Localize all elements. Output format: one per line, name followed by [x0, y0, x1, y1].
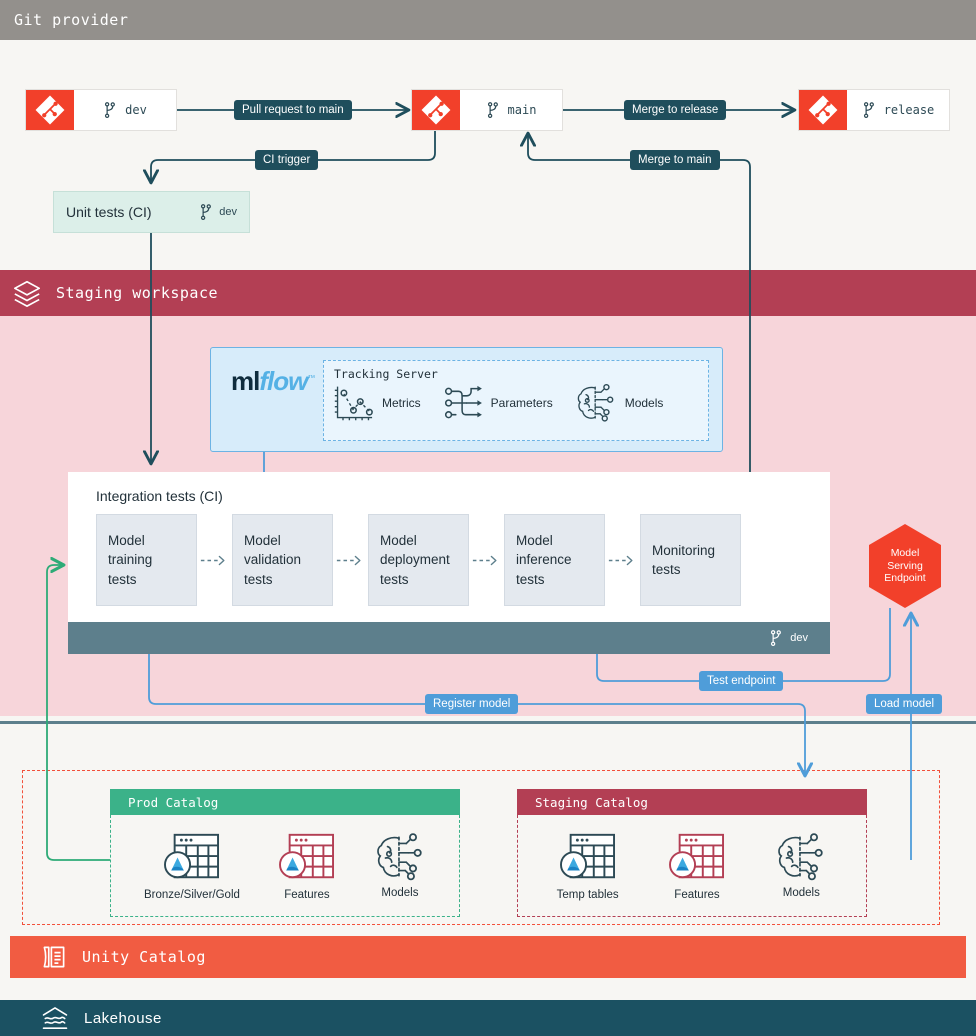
- delta-table-icon: [559, 830, 617, 884]
- mlflow-logo-ml: ml: [231, 366, 259, 396]
- prod-catalog-header: Prod Catalog: [110, 789, 460, 815]
- branch-name-main: main: [508, 103, 537, 117]
- stage-label: Monitoring tests: [652, 541, 715, 579]
- model-serving-endpoint-label: Model Serving Endpoint: [884, 547, 925, 585]
- tracking-item-label: Models: [625, 396, 664, 410]
- feature-table-icon: [278, 830, 336, 884]
- label-test-endpoint: Test endpoint: [699, 671, 783, 691]
- asset-label: Features: [674, 889, 719, 901]
- stage-model-validation-tests[interactable]: Model validation tests: [232, 514, 333, 606]
- flow-nodes-icon: [443, 385, 483, 421]
- stage-monitoring-tests[interactable]: Monitoring tests: [640, 514, 741, 606]
- asset-temp-tables[interactable]: Temp tables: [557, 830, 619, 901]
- tracking-item-parameters: Parameters: [443, 385, 553, 421]
- brain-circuit-icon: [775, 832, 827, 882]
- mlflow-trademark: ™: [307, 373, 314, 382]
- asset-label: Temp tables: [557, 889, 619, 901]
- label-load-model: Load model: [866, 694, 942, 714]
- branch-name-dev: dev: [125, 103, 147, 117]
- tracking-server-label: Tracking Server: [324, 361, 708, 381]
- stage-model-training-tests[interactable]: Model training tests: [96, 514, 197, 606]
- stage-label: Model validation tests: [244, 531, 301, 588]
- label-merge-to-release: Merge to release: [624, 100, 726, 120]
- staging-catalog-title: Staging Catalog: [535, 795, 648, 810]
- asset-label: Features: [284, 889, 329, 901]
- stage-connector-arrow-icon: [605, 554, 640, 567]
- git-branch-icon: [769, 629, 784, 647]
- stage-model-deployment-tests[interactable]: Model deployment tests: [368, 514, 469, 606]
- mlflow-logo-flow: flow: [259, 366, 307, 396]
- stage-connector-arrow-icon: [469, 554, 504, 567]
- label-ci-trigger: CI trigger: [255, 150, 318, 170]
- delta-table-icon: [163, 830, 221, 884]
- mlflow-logo: mlflow™: [231, 368, 314, 394]
- stage-label: Model inference tests: [516, 531, 572, 588]
- integration-tests-chain: Model training tests Model validation te…: [68, 504, 830, 606]
- brain-circuit-icon: [575, 383, 617, 423]
- staging-catalog-assets: Temp tables Features Models: [517, 815, 867, 917]
- integration-tests-panel: Integration tests (CI) Model training te…: [68, 472, 830, 622]
- tracking-item-label: Metrics: [382, 396, 421, 410]
- label-merge-to-main: Merge to main: [630, 150, 720, 170]
- asset-models[interactable]: Models: [775, 832, 827, 899]
- feature-table-icon: [668, 830, 726, 884]
- git-logo-icon: [799, 90, 847, 130]
- asset-features[interactable]: Features: [278, 830, 336, 901]
- tracking-item-models: Models: [575, 383, 664, 423]
- asset-label: Models: [783, 887, 820, 899]
- stage-label: Model deployment tests: [380, 531, 450, 588]
- stage-connector-arrow-icon: [197, 554, 232, 567]
- prod-catalog-title: Prod Catalog: [128, 795, 218, 810]
- asset-label: Bronze/Silver/Gold: [144, 889, 240, 901]
- integration-tests-branch: dev: [790, 632, 808, 644]
- unit-tests-branch: dev: [219, 206, 237, 218]
- brain-circuit-icon: [374, 832, 426, 882]
- label-register-model: Register model: [425, 694, 518, 714]
- tracking-item-metrics: Metrics: [332, 383, 421, 423]
- git-branch-icon: [199, 203, 214, 221]
- prod-catalog: Prod Catalog Bronze/Silver/Gold Features…: [110, 789, 460, 917]
- git-logo-icon: [412, 90, 460, 130]
- repo-card-main[interactable]: main: [411, 89, 563, 131]
- asset-label: Models: [381, 887, 418, 899]
- stage-connector-arrow-icon: [333, 554, 368, 567]
- git-branch-icon: [103, 101, 118, 119]
- branch-name-release: release: [884, 103, 935, 117]
- integration-tests-title: Integration tests (CI): [68, 472, 830, 504]
- git-branch-icon: [862, 101, 877, 119]
- stage-label: Model training tests: [108, 531, 152, 588]
- unit-tests-box[interactable]: Unit tests (CI) dev: [53, 191, 250, 233]
- line-chart-icon: [332, 383, 374, 423]
- asset-features[interactable]: Features: [668, 830, 726, 901]
- prod-catalog-assets: Bronze/Silver/Gold Features Models: [110, 815, 460, 917]
- repo-card-release[interactable]: release: [798, 89, 950, 131]
- repo-card-dev[interactable]: dev: [25, 89, 177, 131]
- git-logo-icon: [26, 90, 74, 130]
- stage-model-inference-tests[interactable]: Model inference tests: [504, 514, 605, 606]
- unit-tests-label: Unit tests (CI): [66, 204, 152, 220]
- asset-models[interactable]: Models: [374, 832, 426, 899]
- tracking-item-label: Parameters: [491, 396, 553, 410]
- staging-catalog: Staging Catalog Temp tables Features Mod…: [517, 789, 867, 917]
- staging-catalog-header: Staging Catalog: [517, 789, 867, 815]
- asset-bronze-silver-gold[interactable]: Bronze/Silver/Gold: [144, 830, 240, 901]
- git-branch-icon: [486, 101, 501, 119]
- label-pull-request: Pull request to main: [234, 100, 352, 120]
- integration-tests-branch-bar: dev: [68, 622, 830, 654]
- mlflow-panel: mlflow™ Tracking Server Metrics Paramete…: [210, 347, 723, 452]
- tracking-server-box: Tracking Server Metrics Parameters Model…: [323, 360, 709, 441]
